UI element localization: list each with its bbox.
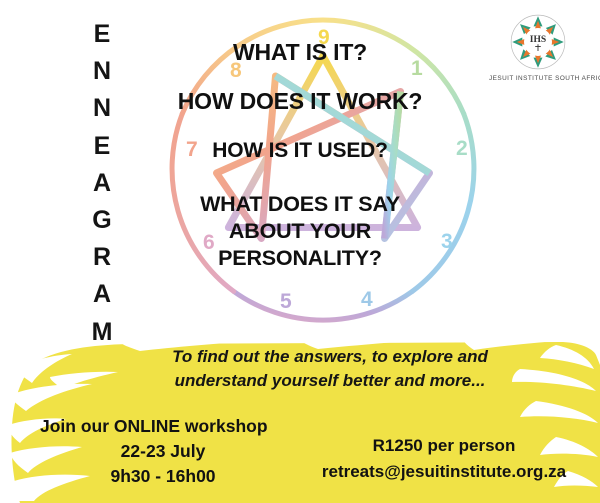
enneagram-number-3: 3 — [441, 231, 453, 252]
svg-text:IHS: IHS — [530, 35, 546, 45]
enneagram-number-6: 6 — [203, 232, 215, 253]
enneagram-number-5: 5 — [280, 291, 292, 312]
logo-name: JESUIT INSTITUTE SOUTH AFRICA — [489, 75, 587, 82]
workshop-times: 9h30 - 16h00 — [18, 464, 308, 489]
vertical-letter-n2: N — [93, 90, 111, 127]
banner-tagline: To find out the answers, to explore and … — [120, 345, 540, 393]
enneagram-diagram — [160, 8, 490, 338]
jesuit-institute-logo: IHS JESUIT INSTITUTE SOUTH AFRICA — [489, 14, 587, 82]
enneagram-number-1: 1 — [411, 58, 423, 79]
vertical-letter-a2: A — [93, 276, 111, 313]
enneagram-number-4: 4 — [361, 289, 373, 310]
vertical-letter-g: G — [92, 202, 111, 239]
banner-text-group: To find out the answers, to explore and … — [0, 325, 600, 503]
workshop-price: R1250 per person — [296, 433, 592, 459]
enneagram-vertical-title: E N N E A G R A M — [82, 16, 122, 351]
enneagram-number-9: 9 — [318, 27, 330, 48]
vertical-letter-e2: E — [94, 128, 111, 165]
workshop-details-right: R1250 per person retreats@jesuitinstitut… — [296, 433, 592, 485]
tagline-line1: To find out the answers, to explore and — [120, 345, 540, 369]
enneagram-workshop-poster: 9 1 2 3 4 5 6 7 8 WHAT IS IT? HOW DOES I… — [0, 0, 600, 503]
vertical-letter-n1: N — [93, 53, 111, 90]
ihs-sunburst-icon: IHS — [510, 14, 566, 70]
enneagram-number-2: 2 — [456, 138, 468, 159]
workshop-join-line: Join our ONLINE workshop — [18, 414, 308, 439]
workshop-dates: 22-23 July — [18, 439, 308, 464]
vertical-letter-r: R — [93, 239, 111, 276]
vertical-letter-m: M — [92, 314, 113, 351]
workshop-email[interactable]: retreats@jesuitinstitute.org.za — [296, 459, 592, 485]
enneagram-number-7: 7 — [186, 139, 198, 160]
vertical-letter-a1: A — [93, 165, 111, 202]
tagline-line2: understand yourself better and more... — [120, 369, 540, 393]
enneagram-number-8: 8 — [230, 60, 242, 81]
workshop-details-left: Join our ONLINE workshop 22-23 July 9h30… — [18, 414, 308, 489]
vertical-letter-e1: E — [94, 16, 111, 53]
